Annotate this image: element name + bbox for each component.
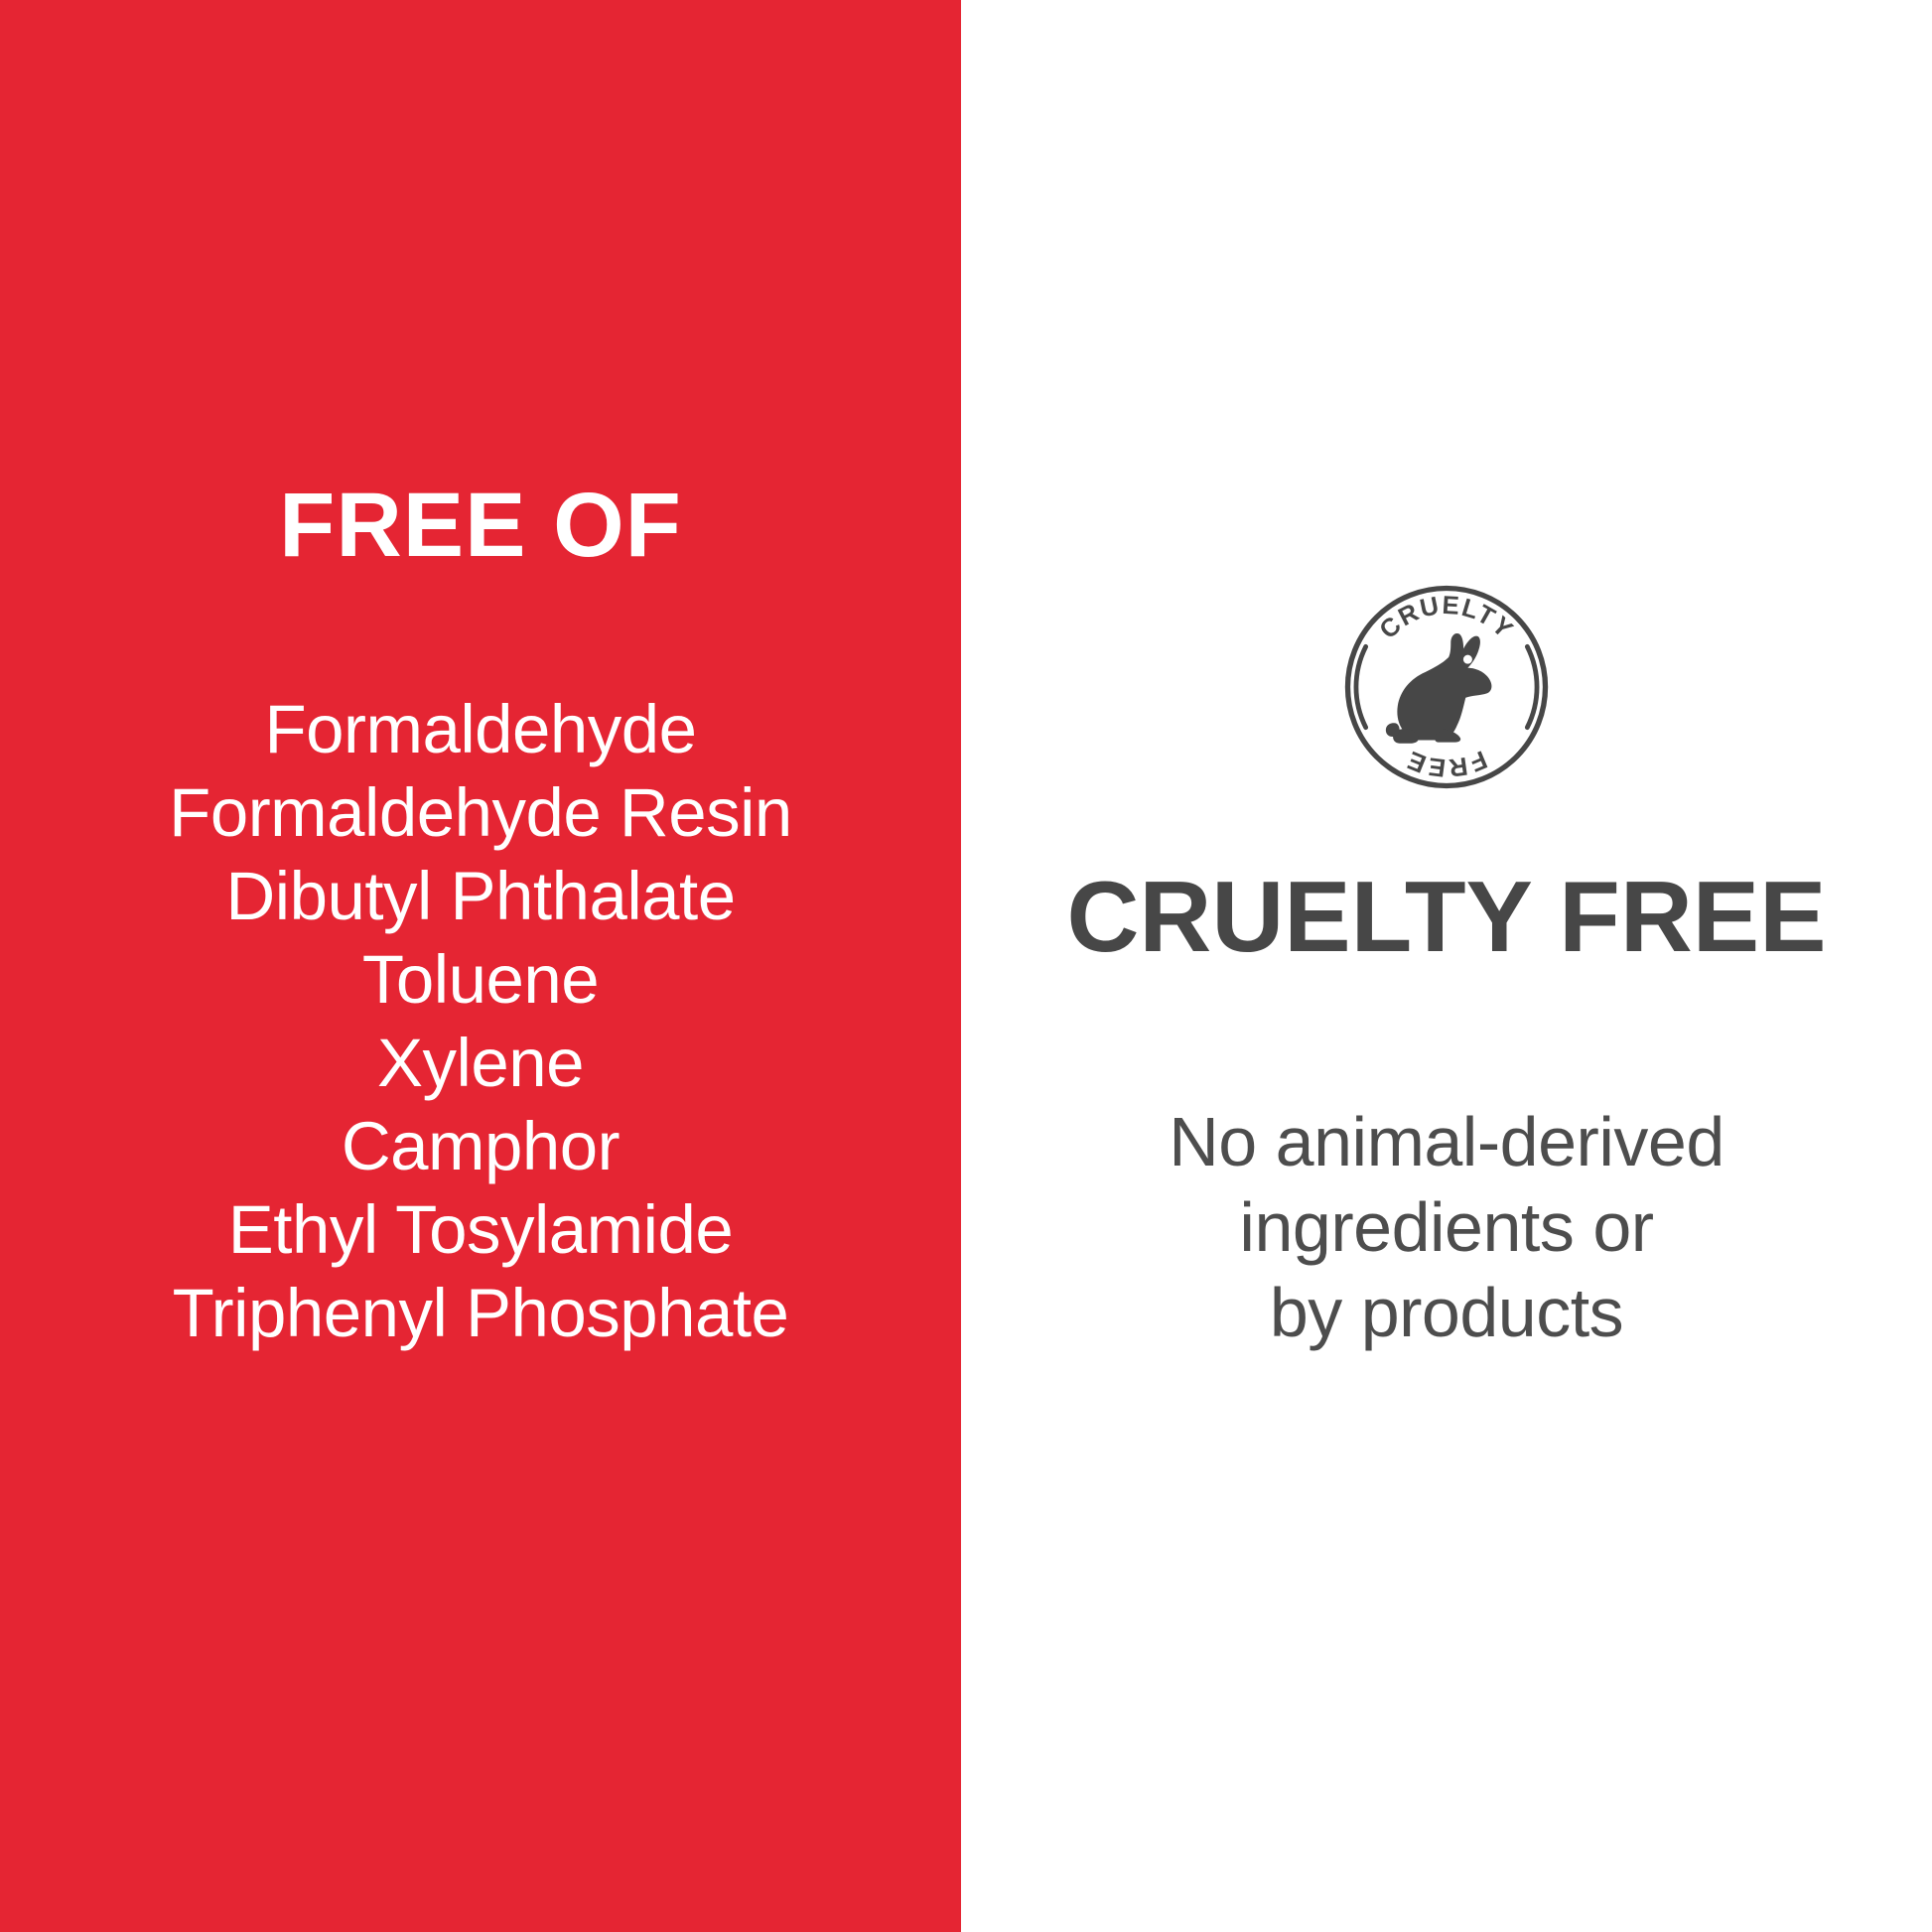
free-of-list-item: Camphor	[342, 1105, 620, 1188]
free-of-list-item: Ethyl Tosylamide	[228, 1188, 733, 1272]
free-of-list-item: Formaldehyde Resin	[169, 771, 792, 855]
cruelty-free-rabbit-badge-icon: CRUELTY FREE	[1340, 581, 1553, 793]
product-claims-graphic: FREE OF Formaldehyde Formaldehyde Resin …	[0, 0, 1932, 1932]
cruelty-free-subtitle-line: by products	[1270, 1270, 1623, 1355]
free-of-list-item: Toluene	[362, 938, 599, 1022]
cruelty-free-heading: CRUELTY FREE	[961, 868, 1932, 968]
cruelty-free-subtitle-line: ingredients or	[1239, 1184, 1653, 1270]
free-of-ingredient-list: Formaldehyde Formaldehyde Resin Dibutyl …	[0, 688, 961, 1355]
cruelty-free-subtitle: No animal-derived ingredients or by prod…	[961, 1099, 1932, 1355]
cruelty-free-subtitle-line: No animal-derived	[1169, 1099, 1725, 1184]
badge-left-arc	[1356, 646, 1366, 727]
free-of-list-item: Dibutyl Phthalate	[225, 855, 735, 938]
free-of-title: FREE OF	[0, 480, 961, 571]
badge-right-arc	[1527, 646, 1537, 727]
badge-bottom-arc-text: FREE	[1403, 745, 1491, 781]
rabbit-eye-icon	[1463, 655, 1472, 664]
cruelty-free-panel: CRUELTY FREE CRUELTY FREE No anim	[961, 0, 1932, 1932]
rabbit-silhouette-icon	[1386, 633, 1492, 744]
free-of-list-item: Triphenyl Phosphate	[173, 1272, 789, 1355]
free-of-list-item: Formaldehyde	[264, 688, 696, 771]
free-of-panel: FREE OF Formaldehyde Formaldehyde Resin …	[0, 0, 961, 1932]
free-of-list-item: Xylene	[377, 1022, 584, 1105]
